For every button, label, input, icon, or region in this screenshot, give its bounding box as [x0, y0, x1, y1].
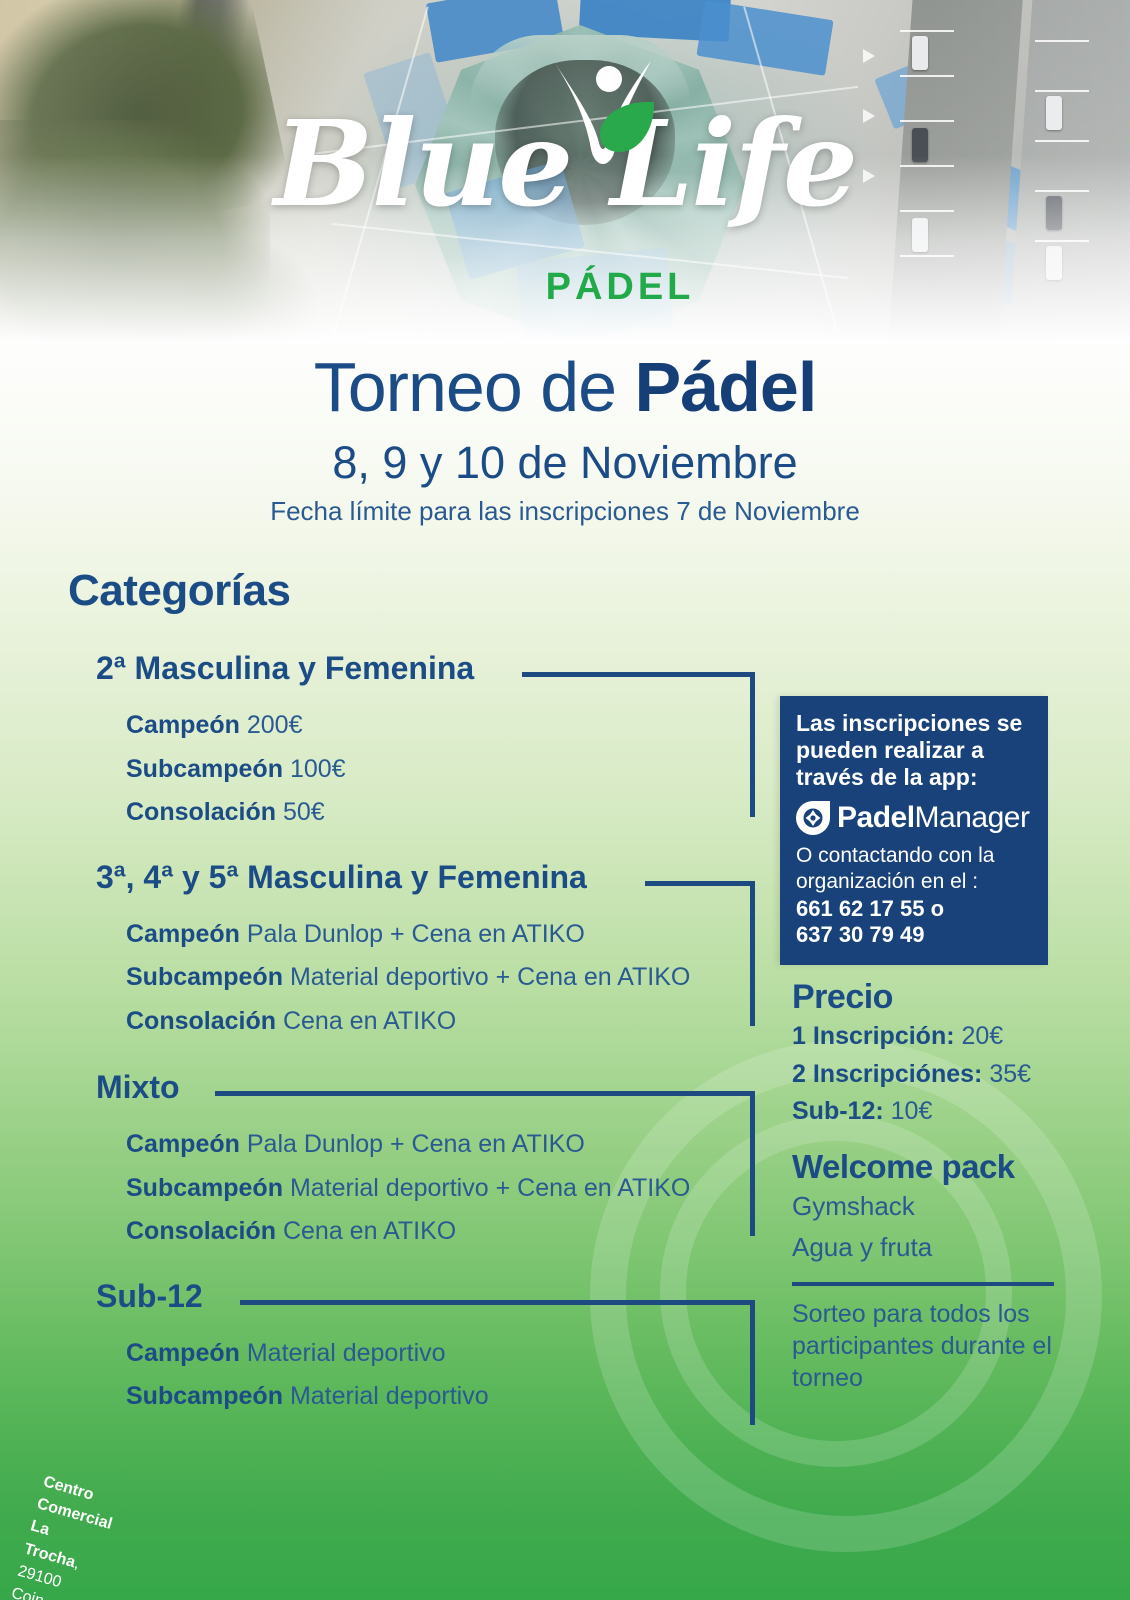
category-bracket — [240, 1300, 755, 1425]
footer-venue-name: Centro Comercial La Trocha — [22, 1473, 114, 1571]
category-title: Mixto — [96, 1069, 180, 1106]
brand-logo: Blue Life — [0, 105, 1130, 223]
footer: Centro Comercial La Trocha, 29100 Coin, … — [0, 1464, 1130, 1600]
category-title: 2ª Masculina y Femenina — [96, 650, 474, 687]
contact-phones: 661 62 17 55 o 637 30 79 49 — [796, 896, 1032, 949]
poster-root: Blue Life PÁDEL Torneo de Pádel 8, 9 y 1… — [0, 0, 1130, 1600]
price-value: 35€ — [989, 1060, 1031, 1088]
footer-venue: Centro Comercial La Trocha, 29100 Coin, … — [0, 1470, 49, 1600]
prize-value: Material deportivo + Cena en ATIKO — [290, 963, 690, 991]
price-row: 2 Inscripciónes: 35€ — [792, 1057, 1054, 1093]
prize-label: Campeón — [126, 920, 240, 948]
prize-label: Subcampeón — [126, 963, 283, 991]
prize-label: Campeón — [126, 711, 240, 739]
price-row: 1 Inscripción: 20€ — [792, 1019, 1054, 1055]
logo-subtext-row: PÁDEL — [0, 266, 1130, 309]
phone-1[interactable]: 661 62 17 55 — [796, 896, 924, 921]
logo-wordmark: Blue Life — [274, 105, 856, 223]
prize-label: Subcampeón — [126, 755, 283, 783]
divider — [792, 1282, 1054, 1286]
price-value: 10€ — [891, 1097, 933, 1125]
price-value: 20€ — [962, 1022, 1004, 1050]
padelmanager-logo[interactable]: PadelManager — [796, 801, 1032, 835]
phone-2[interactable]: 637 30 79 49 — [796, 922, 924, 947]
registration-instructions: Las inscripciones se pueden realizar a t… — [796, 710, 1032, 791]
right-column: Precio 1 Inscripción: 20€ 2 Inscripcióne… — [792, 978, 1054, 1394]
prize-value: Pala Dunlop + Cena en ATIKO — [247, 920, 585, 948]
leaf-icon — [596, 99, 658, 155]
raffle-note: Sorteo para todos los participantes dura… — [792, 1298, 1054, 1394]
category-title: 3ª, 4ª y 5ª Masculina y Femenina — [96, 859, 587, 896]
prize-value: Cena en ATIKO — [283, 1007, 456, 1035]
welcome-pack-heading: Welcome pack — [792, 1148, 1054, 1186]
prize-value: 100€ — [290, 755, 346, 783]
welcome-pack-item: Gymshack — [792, 1186, 1054, 1227]
price-row: Sub-12: 10€ — [792, 1094, 1054, 1130]
logo-padel-text: PÁDEL — [546, 266, 695, 309]
price-heading: Precio — [792, 978, 1054, 1017]
padelmanager-name: PadelManager — [837, 803, 1029, 833]
price-label: 1 Inscripción: — [792, 1022, 955, 1050]
title-plain: Torneo de — [314, 348, 635, 426]
category-title: Sub-12 — [96, 1278, 203, 1315]
prize-value: 50€ — [283, 798, 325, 826]
category-bracket — [645, 881, 755, 1026]
padelmanager-bold: Padel — [837, 801, 915, 834]
event-dates: 8, 9 y 10 de Noviembre — [0, 440, 1130, 485]
prize-label: Consolación — [126, 798, 276, 826]
prize-label: Consolación — [126, 1007, 276, 1035]
registration-info-box: Las inscripciones se pueden realizar a t… — [780, 696, 1048, 965]
padelmanager-logo-icon — [796, 801, 830, 835]
page-title: Torneo de Pádel — [0, 352, 1130, 422]
prize-value: 200€ — [247, 711, 303, 739]
prize-label: Campeón — [126, 1339, 240, 1367]
phone-separator: o — [931, 896, 944, 921]
category-bracket — [215, 1091, 755, 1236]
category-bracket — [522, 672, 755, 817]
padelmanager-light: Manager — [915, 801, 1030, 834]
title-bold: Pádel — [635, 348, 817, 426]
price-label: Sub-12: — [792, 1097, 884, 1125]
categories-heading: Categorías — [68, 566, 290, 616]
contact-instructions: O contactando con la organización en el … — [796, 843, 1032, 893]
welcome-pack-item: Agua y fruta — [792, 1227, 1054, 1268]
price-label: 2 Inscripciónes: — [792, 1060, 982, 1088]
registration-deadline: Fecha límite para las inscripciones 7 de… — [0, 498, 1130, 524]
